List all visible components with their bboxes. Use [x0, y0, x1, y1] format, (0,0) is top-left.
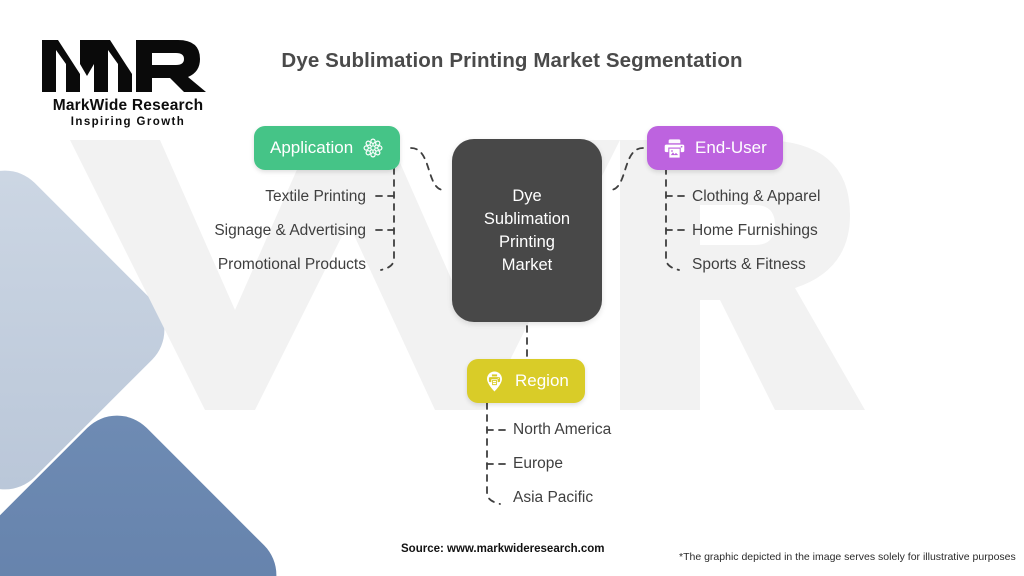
decorative-shape-dark [0, 398, 294, 576]
leaf-application-1: Textile Printing [265, 188, 366, 206]
map-pin-printer-icon [483, 370, 506, 393]
printer-icon [663, 137, 686, 160]
page-title: Dye Sublimation Printing Market Segmenta… [0, 49, 1024, 73]
leaf-application-3: Promotional Products [218, 256, 366, 274]
source-text: Source: www.markwideresearch.com [401, 543, 604, 555]
decorative-shape-light [0, 153, 182, 507]
leaf-region-3: Asia Pacific [513, 489, 593, 507]
branch-badge-application[interactable]: Application [254, 126, 400, 170]
leaf-end-user-3: Sports & Fitness [692, 256, 806, 274]
segmentation-infographic: MarkWide Research Inspiring Growth Dye S… [0, 0, 1024, 576]
central-market-label: Dye Sublimation Printing Market [484, 185, 570, 277]
leaf-end-user-1: Clothing & Apparel [692, 188, 820, 206]
leaf-end-user-2: Home Furnishings [692, 222, 818, 240]
leaf-region-1: North America [513, 421, 611, 439]
branch-label-end-user: End-User [695, 138, 767, 158]
central-market-node: Dye Sublimation Printing Market [452, 139, 602, 322]
brand-name: MarkWide Research [28, 97, 228, 115]
flower-rosette-icon [362, 137, 384, 159]
branch-label-application: Application [270, 138, 353, 158]
branch-badge-end-user[interactable]: End-User [647, 126, 783, 170]
branch-label-region: Region [515, 371, 569, 391]
disclaimer-text: *The graphic depicted in the image serve… [679, 551, 1016, 563]
brand-tagline: Inspiring Growth [28, 116, 228, 128]
branch-badge-region[interactable]: Region [467, 359, 585, 403]
leaf-application-2: Signage & Advertising [214, 222, 366, 240]
leaf-region-2: Europe [513, 455, 563, 473]
